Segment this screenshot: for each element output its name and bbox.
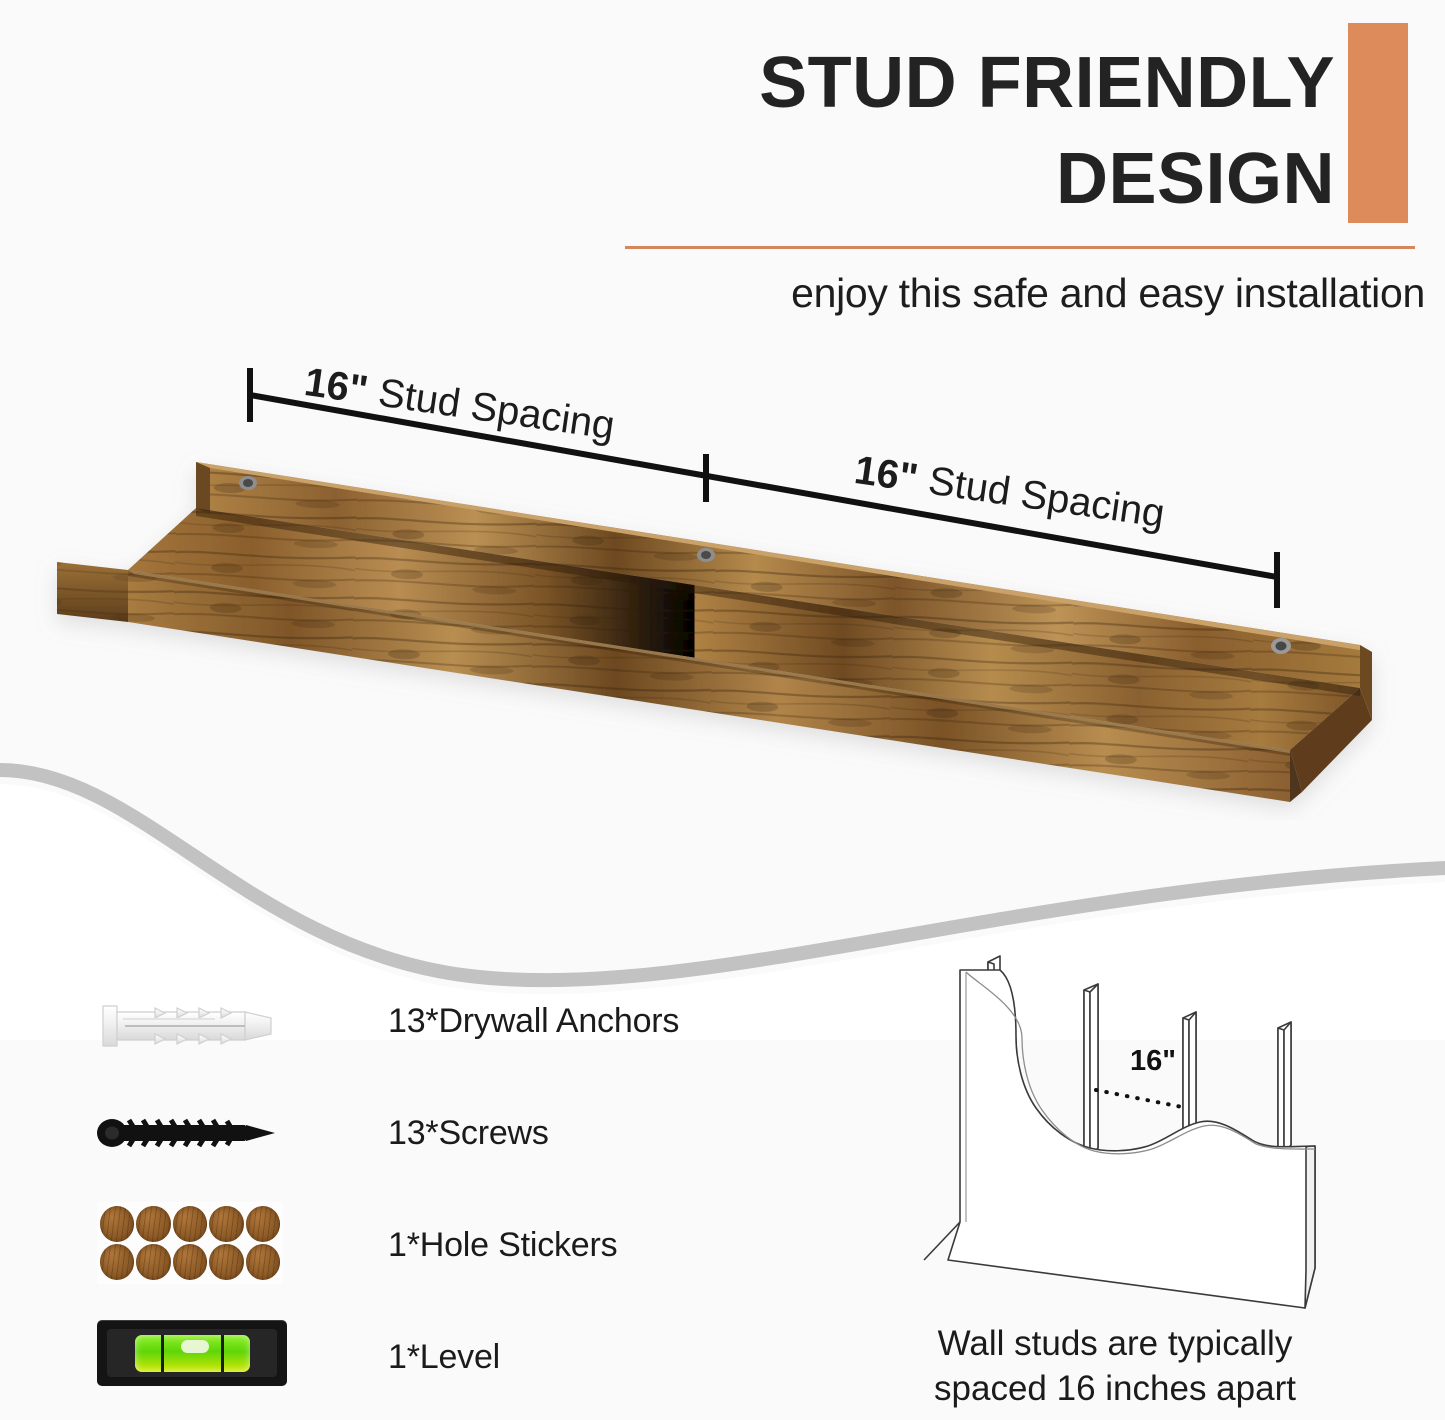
level-mark <box>161 1335 164 1372</box>
title-divider-rule <box>625 246 1415 249</box>
hole-stickers-icon <box>85 1200 300 1290</box>
hole-sticker-dot <box>246 1206 280 1242</box>
diagram-caption: Wall studs are typically spaced 16 inche… <box>880 1322 1350 1412</box>
screw-icon <box>85 1088 300 1178</box>
accent-bar <box>1348 23 1408 223</box>
list-item-label: 1*Hole Stickers <box>388 1226 617 1265</box>
diagram-measure-label: 16" <box>1130 1045 1176 1077</box>
list-item: 1*Level <box>85 1301 725 1413</box>
level-vial <box>135 1335 250 1372</box>
list-item: 13*Screws <box>85 1077 725 1189</box>
hole-sticker-dot <box>209 1244 243 1280</box>
list-item-label: 1*Level <box>388 1338 500 1377</box>
page-subtitle: enjoy this safe and easy installation <box>625 270 1425 317</box>
diagram-caption-line-2: spaced 16 inches apart <box>880 1367 1350 1412</box>
header-block: STUD FRIENDLY DESIGN enjoy this safe and… <box>600 18 1430 318</box>
wall-stud-diagram: 16" <box>900 950 1330 1330</box>
dimension-dotted-line <box>1096 1090 1187 1108</box>
list-item: 1*Hole Stickers <box>85 1189 725 1301</box>
hole-sticker-dot <box>136 1244 170 1280</box>
level-housing <box>97 1320 287 1386</box>
page-title: STUD FRIENDLY DESIGN <box>615 36 1335 228</box>
stud <box>1278 1022 1291 1153</box>
list-item-label: 13*Screws <box>388 1114 549 1153</box>
hole-sticker-dot <box>173 1244 207 1280</box>
parts-list: 13*Drywall Anchors <box>85 965 725 1413</box>
hole-sticker-dot <box>173 1206 207 1242</box>
hole-sticker-dot <box>100 1206 134 1242</box>
infographic-canvas: STUD FRIENDLY DESIGN enjoy this safe and… <box>0 0 1445 1420</box>
level-window <box>107 1329 277 1377</box>
level-mark <box>221 1335 224 1372</box>
sticker-sheet <box>97 1202 283 1284</box>
list-item: 13*Drywall Anchors <box>85 965 725 1077</box>
hole-sticker-dot <box>246 1244 280 1280</box>
stud <box>1084 984 1098 1156</box>
level-bubble <box>181 1340 209 1353</box>
hole-sticker-dot <box>100 1244 134 1280</box>
hole-sticker-dot <box>209 1206 243 1242</box>
list-item-label: 13*Drywall Anchors <box>388 1002 679 1041</box>
title-line-2: DESIGN <box>615 132 1335 228</box>
diagram-caption-line-1: Wall studs are typically <box>880 1322 1350 1367</box>
hole-sticker-dot <box>136 1206 170 1242</box>
drywall-anchor-icon <box>85 976 300 1066</box>
level-icon <box>85 1312 300 1402</box>
title-line-1: STUD FRIENDLY <box>759 43 1335 123</box>
stud-spacing-dimension <box>0 330 1445 650</box>
